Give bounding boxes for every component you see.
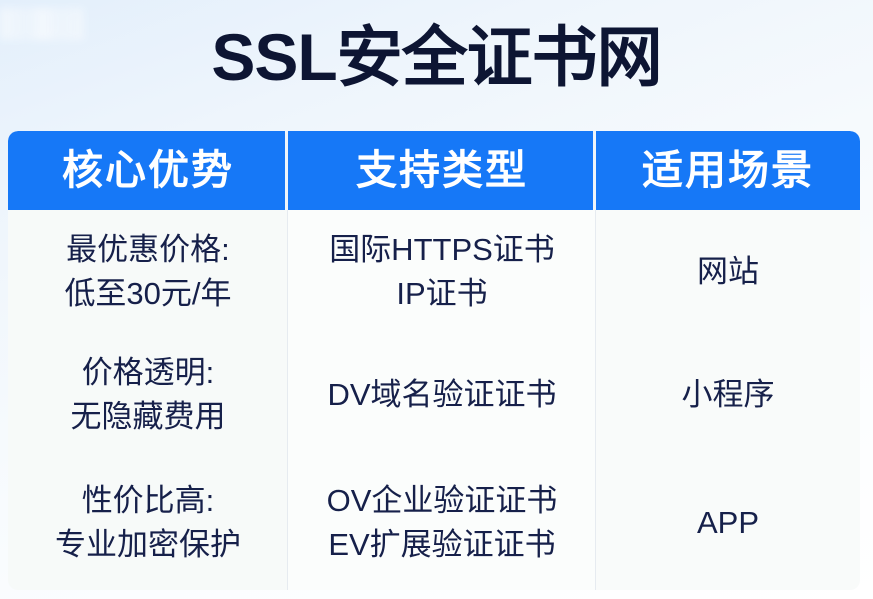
cell-text-line: 小程序	[682, 373, 775, 417]
column-header-label: 适用场景	[642, 150, 814, 191]
cell-supported-type: OV企业验证证书 EV扩展验证证书	[288, 456, 596, 590]
cell-text-line: 无隐藏费用	[71, 395, 226, 439]
cell-text-line: EV扩展验证证书	[327, 523, 558, 567]
cell-use-case: 网站	[596, 210, 860, 333]
cell-text-line: IP证书	[329, 272, 555, 316]
cell-text-line: 价格透明:	[71, 351, 226, 395]
cell-core-advantage: 性价比高: 专业加密保护	[8, 456, 288, 590]
column-header-use-case: 适用场景	[596, 131, 860, 210]
cell-text-line: 性价比高:	[55, 479, 241, 523]
page-title: SSL安全证书网	[0, 14, 873, 100]
table-row: 最优惠价格: 低至30元/年 国际HTTPS证书 IP证书 网站	[8, 210, 860, 333]
cell-text-line: OV企业验证证书	[327, 479, 558, 523]
cell-text-line: APP	[697, 501, 759, 545]
table-row: 性价比高: 专业加密保护 OV企业验证证书 EV扩展验证证书 APP	[8, 456, 860, 590]
cell-supported-type: 国际HTTPS证书 IP证书	[288, 210, 596, 333]
column-header-supported-type: 支持类型	[288, 131, 596, 210]
cell-text-line: 国际HTTPS证书	[329, 228, 555, 272]
cell-core-advantage: 最优惠价格: 低至30元/年	[8, 210, 288, 333]
cell-use-case: 小程序	[596, 333, 860, 456]
cell-text-line: 低至30元/年	[64, 272, 231, 316]
table-row: 价格透明: 无隐藏费用 DV域名验证证书 小程序	[8, 333, 860, 456]
table-header-row: 核心优势 支持类型 适用场景	[8, 131, 860, 210]
cell-supported-type: DV域名验证证书	[288, 333, 596, 456]
cell-text-line: 专业加密保护	[55, 523, 241, 567]
ssl-comparison-table: 核心优势 支持类型 适用场景 最优惠价格: 低至30元/年 国际HTTPS证书 …	[8, 131, 860, 590]
cell-use-case: APP	[596, 456, 860, 590]
cell-core-advantage: 价格透明: 无隐藏费用	[8, 333, 288, 456]
cell-text-line: DV域名验证证书	[327, 373, 556, 417]
column-header-core-advantage: 核心优势	[8, 131, 288, 210]
cell-text-line: 网站	[697, 250, 759, 294]
cell-text-line: 最优惠价格:	[64, 228, 231, 272]
column-header-label: 核心优势	[62, 150, 234, 191]
column-header-label: 支持类型	[356, 150, 528, 191]
